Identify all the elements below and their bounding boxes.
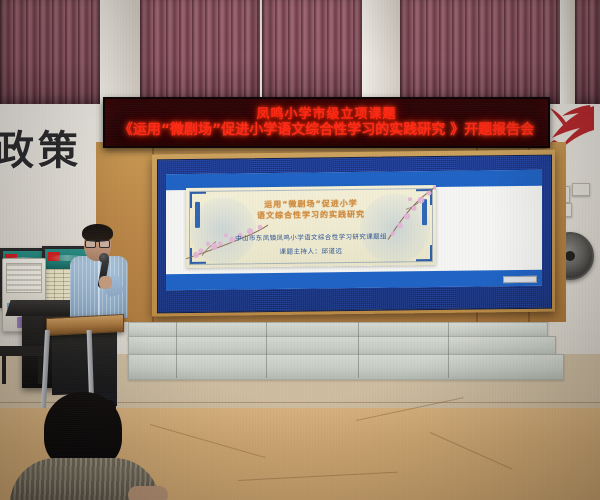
slide-content-card: 运用“微剧场”促进小学 语文综合性学习的实践研究 中山市东凤镇凤鸣小学语文综合性… (186, 185, 436, 268)
stage-step-bottom (128, 354, 564, 380)
ac-louvers (6, 263, 42, 293)
wall-pillar (560, 0, 576, 108)
podium-body (52, 329, 116, 395)
stage-curtain-panel (400, 0, 560, 108)
wall-slogan-text: 政策 (0, 118, 82, 176)
presentation-toolbar[interactable] (503, 276, 537, 283)
stage-curtain-panel (262, 0, 362, 108)
auditorium-photo-scene: 政策 凤鸣小学市级立项课题 《运用“微剧场”促进小学语文综合性学习的实践研究 》… (0, 0, 600, 500)
banner-line-2: 《运用“微剧场”促进小学语文综合性学习的实践研究 》开题报告会 (119, 123, 534, 137)
slide-bottom-band (166, 270, 542, 291)
stage-curtain-panel (575, 0, 600, 108)
microphone-head (99, 253, 109, 263)
stage-curtain-panel (140, 0, 260, 108)
stage-curtain-panel (0, 0, 100, 108)
audience-member-arm (128, 486, 168, 500)
glasses-icon (85, 240, 110, 246)
wall-pillar (362, 0, 400, 108)
led-screen-frame: 运用“微剧场”促进小学 语文综合性学习的实践研究 中山市东凤镇凤鸣小学语文综合性… (152, 150, 555, 317)
led-scrolling-banner: 凤鸣小学市级立项课题 《运用“微剧场”促进小学语文综合性学习的实践研究 》开题报… (103, 97, 550, 148)
wall-pillar (100, 0, 140, 108)
piano-bench (0, 346, 44, 356)
banner-line-1: 凤鸣小学市级立项课题 (256, 108, 396, 121)
slide-title: 运用“微剧场”促进小学 语文综合性学习的实践研究 (186, 197, 436, 222)
wall-power-socket[interactable] (572, 183, 590, 196)
speaker-hand (99, 276, 112, 289)
led-display-screen: 运用“微剧场”促进小学 语文综合性学习的实践研究 中山市东凤镇凤鸣小学语文综合性… (157, 155, 552, 314)
